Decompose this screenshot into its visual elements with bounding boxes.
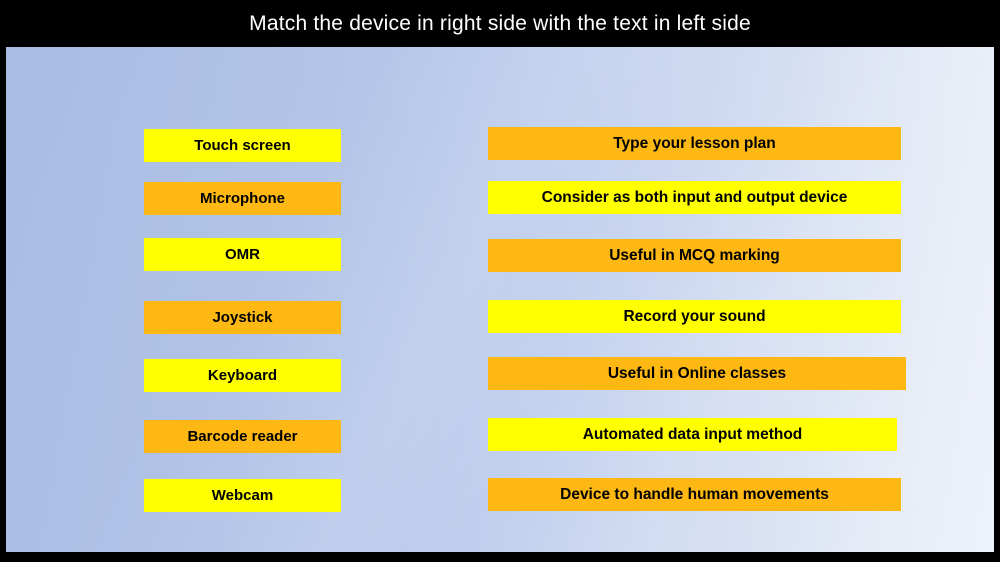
worksheet-page: Match the device in right side with the … bbox=[0, 0, 1000, 562]
description-bar[interactable]: Automated data input method bbox=[488, 418, 897, 451]
description-bar-label: Type your lesson plan bbox=[613, 136, 776, 152]
device-bar[interactable]: Touch screen bbox=[144, 129, 341, 162]
device-bar[interactable]: Webcam bbox=[144, 479, 341, 512]
device-bar-label: Webcam bbox=[212, 488, 273, 503]
description-bar[interactable]: Device to handle human movements bbox=[488, 478, 901, 511]
device-bar[interactable]: OMR bbox=[144, 238, 341, 271]
device-bar-label: Joystick bbox=[212, 310, 272, 325]
description-bar[interactable]: Consider as both input and output device bbox=[488, 181, 901, 214]
description-bar[interactable]: Useful in Online classes bbox=[488, 357, 906, 390]
device-bar-label: Barcode reader bbox=[187, 429, 297, 444]
matching-columns: Touch screenMicrophoneOMRJoystickKeyboar… bbox=[6, 47, 994, 552]
description-bar-label: Consider as both input and output device bbox=[542, 190, 848, 206]
description-bar-label: Record your sound bbox=[623, 309, 765, 325]
description-bar-label: Useful in Online classes bbox=[608, 366, 786, 382]
title-bar: Match the device in right side with the … bbox=[0, 0, 1000, 47]
description-bar[interactable]: Record your sound bbox=[488, 300, 901, 333]
device-bar-label: Microphone bbox=[200, 191, 285, 206]
device-bar-label: Keyboard bbox=[208, 368, 277, 383]
worksheet-canvas: Touch screenMicrophoneOMRJoystickKeyboar… bbox=[6, 47, 994, 552]
page-title: Match the device in right side with the … bbox=[249, 12, 751, 36]
description-bar[interactable]: Type your lesson plan bbox=[488, 127, 901, 160]
device-bar-label: Touch screen bbox=[194, 138, 290, 153]
device-bar-label: OMR bbox=[225, 247, 260, 262]
description-bar-label: Device to handle human movements bbox=[560, 487, 829, 503]
device-bar[interactable]: Joystick bbox=[144, 301, 341, 334]
device-bar[interactable]: Microphone bbox=[144, 182, 341, 215]
device-bar[interactable]: Barcode reader bbox=[144, 420, 341, 453]
device-bar[interactable]: Keyboard bbox=[144, 359, 341, 392]
description-bar-label: Automated data input method bbox=[583, 427, 803, 443]
description-bar-label: Useful in MCQ marking bbox=[609, 248, 780, 264]
description-bar[interactable]: Useful in MCQ marking bbox=[488, 239, 901, 272]
